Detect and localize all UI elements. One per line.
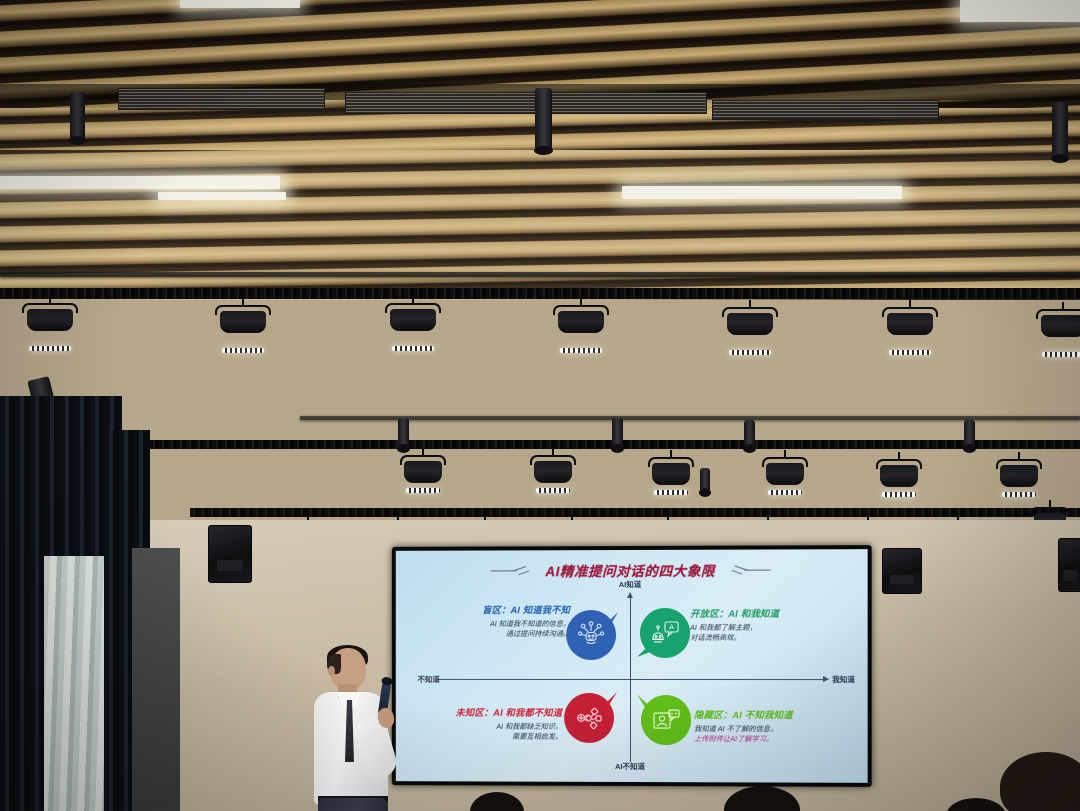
robot-chat-icon: A — [649, 617, 681, 649]
ceiling-speaker — [70, 92, 85, 140]
quadrant-line: 我知道 AI 不了解的信息， — [694, 724, 845, 735]
horizontal-axis — [437, 679, 827, 680]
quadrant-line: AI 和我都缺乏知识， — [414, 722, 563, 733]
quadrant-line: AI 和我都了解主题， — [690, 623, 841, 634]
title-decoration-left-icon — [491, 565, 539, 575]
ceiling-strip-light — [622, 186, 902, 199]
stage-light — [553, 298, 609, 354]
stage-light — [722, 300, 778, 356]
quadrant-line: 通过提问持续沟通。 — [421, 630, 570, 641]
truss-speaker — [398, 418, 409, 448]
stage-light — [996, 452, 1042, 498]
stage-light — [22, 296, 78, 352]
quadrant-unknown-zone-bubble — [564, 693, 614, 743]
person-photo-chat-icon — [650, 704, 682, 736]
stage-light — [882, 300, 938, 356]
ceiling-strip-light — [0, 176, 280, 189]
ceiling-strip-light — [158, 192, 286, 200]
quadrant-hidden-zone-bubble — [641, 695, 691, 745]
quadrant-line: 需要互相启发。 — [414, 732, 563, 743]
quadrant-open-zone-text: 开放区：AI 和我知道 AI 和我都了解主题， 对话流畅高效。 — [690, 606, 841, 644]
ceiling-speaker — [1052, 102, 1068, 158]
quadrant-unknown-zone-text: 未知区：AI 和我都不知道 AI 和我都缺乏知识， 需要互相启发。 — [414, 705, 563, 743]
axis-label-top: AI知道 — [619, 579, 641, 590]
axis-label-bottom: AI不知道 — [615, 761, 645, 772]
title-decoration-right-icon — [722, 565, 770, 575]
wall-panel — [132, 548, 180, 811]
node-graph-icon — [573, 702, 605, 734]
stage-light — [385, 296, 441, 352]
stage-light — [762, 450, 808, 496]
wall-speaker — [1058, 538, 1080, 592]
quadrant-blind-zone-bubble — [566, 610, 616, 660]
quadrant-heading: 盲区：AI 知道我不知 — [421, 602, 570, 616]
ceiling-vent — [712, 100, 939, 120]
quadrant-line: 对话流畅高效。 — [690, 633, 841, 644]
quadrant-open-zone-bubble: A — [640, 608, 690, 658]
axis-label-right: 我知道 — [832, 674, 855, 685]
ceiling-vent — [118, 88, 325, 110]
stage-light — [400, 448, 446, 494]
slide-canvas: AI精准提问对话的四大象限 AI知道 AI不知道 不知道 我知道 盲区：AI 知… — [396, 549, 868, 783]
quadrant-line: AI 知道我不知道的信息， — [421, 619, 570, 630]
wood-slat-ceiling-lower — [0, 150, 1080, 300]
presenter-ear — [328, 666, 335, 676]
presenter-trousers — [318, 798, 388, 811]
lighting-truss-bar — [0, 272, 1080, 277]
axis-arrow-right-icon — [823, 676, 829, 682]
truss-speaker — [744, 420, 755, 448]
lighting-truss-bar — [0, 288, 1080, 299]
slide-title-row: AI精准提问对话的四大象限 — [396, 559, 868, 580]
robot-network-icon — [575, 619, 607, 651]
stage-light — [648, 450, 694, 496]
stage-light — [876, 452, 922, 498]
quadrant-heading: 隐藏区：AI 不知我知道 — [694, 707, 845, 721]
axis-arrow-up-icon — [627, 592, 633, 598]
stage-light — [1036, 302, 1080, 358]
stage-curtain-light — [44, 556, 106, 811]
presentation-display[interactable]: AI精准提问对话的四大象限 AI知道 AI不知道 不知道 我知道 盲区：AI 知… — [392, 545, 872, 787]
wall-speaker — [882, 548, 922, 594]
axis-label-left: 不知道 — [417, 674, 439, 685]
stage-light — [215, 298, 271, 354]
lecture-hall-photo: AI精准提问对话的四大象限 AI知道 AI不知道 不知道 我知道 盲区：AI 知… — [0, 0, 1080, 811]
ceiling-vent — [345, 92, 707, 114]
truss-speaker — [612, 418, 623, 448]
ceiling-strip-light — [180, 0, 300, 8]
truss-speaker — [964, 420, 975, 448]
ceiling-speaker — [535, 88, 552, 150]
wall-speaker — [208, 525, 252, 583]
ceiling-strip-light — [960, 0, 1080, 22]
slide-title: AI精准提问对话的四大象限 — [545, 560, 715, 581]
truss-speaker — [700, 468, 710, 492]
quadrant-blind-zone-text: 盲区：AI 知道我不知 AI 知道我不知道的信息， 通过提问持续沟通。 — [421, 602, 570, 640]
svg-text:A: A — [669, 623, 674, 632]
lighting-truss-bar — [300, 416, 1080, 420]
stage-light — [530, 448, 576, 494]
quadrant-line-highlight: 上传附件让AI了解学习。 — [694, 735, 845, 746]
presenter — [312, 648, 398, 811]
quadrant-heading: 未知区：AI 和我都不知道 — [414, 705, 563, 719]
quadrant-hidden-zone-text: 隐藏区：AI 不知我知道 我知道 AI 不了解的信息， 上传附件让AI了解学习。 — [694, 707, 845, 745]
quadrant-heading: 开放区：AI 和我知道 — [690, 606, 841, 620]
